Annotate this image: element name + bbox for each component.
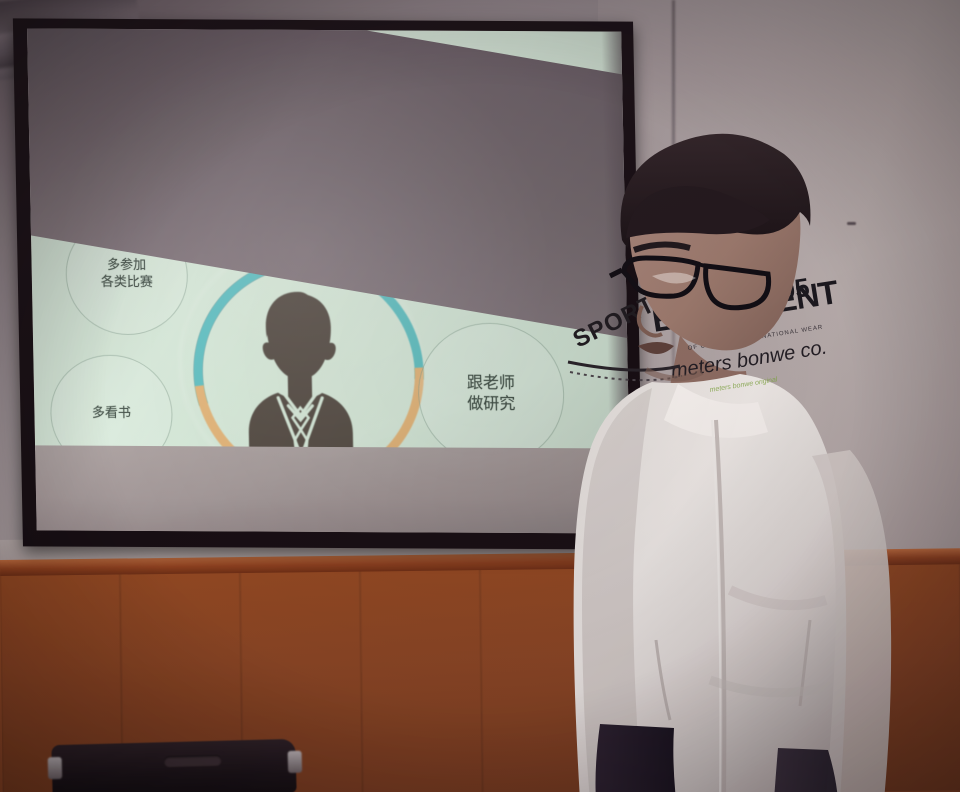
bubble-contest-line1: 多参加 xyxy=(100,258,152,275)
projection-screen-surface: 锻炼身体 学好英语 跟老师 做研究 多参加 各类 xyxy=(27,28,631,533)
bubble-research: 跟老师 做研究 xyxy=(417,322,566,465)
presenter-head xyxy=(610,134,810,379)
projection-screen-frame: 锻炼身体 学好英语 跟老师 做研究 多参加 各类 xyxy=(13,18,643,549)
photo-scene: 锻炼身体 学好英语 跟老师 做研究 多参加 各类 xyxy=(0,0,960,792)
bubble-books-text: 多看书 xyxy=(92,405,131,422)
bubble-research-line2: 做研究 xyxy=(467,394,515,415)
bubble-contest-lines: 多参加 各类比赛 xyxy=(100,258,153,292)
mouth xyxy=(638,342,674,354)
bubble-research-line1: 跟老师 xyxy=(467,373,515,394)
bubble-research-lines: 跟老师 做研究 xyxy=(467,373,516,415)
case-handle xyxy=(164,755,222,768)
case-clip-right xyxy=(288,751,303,773)
equipment-case xyxy=(51,739,296,792)
jacket-sleeve-stripe xyxy=(568,362,680,370)
bubble-contest-line2: 各类比赛 xyxy=(101,275,153,292)
case-clip-left xyxy=(48,757,63,779)
screen-blank-band xyxy=(35,445,631,533)
presenter-person: 95 EQUIPMENT OF ORIGINAL INTERNATIONAL W… xyxy=(560,120,960,792)
